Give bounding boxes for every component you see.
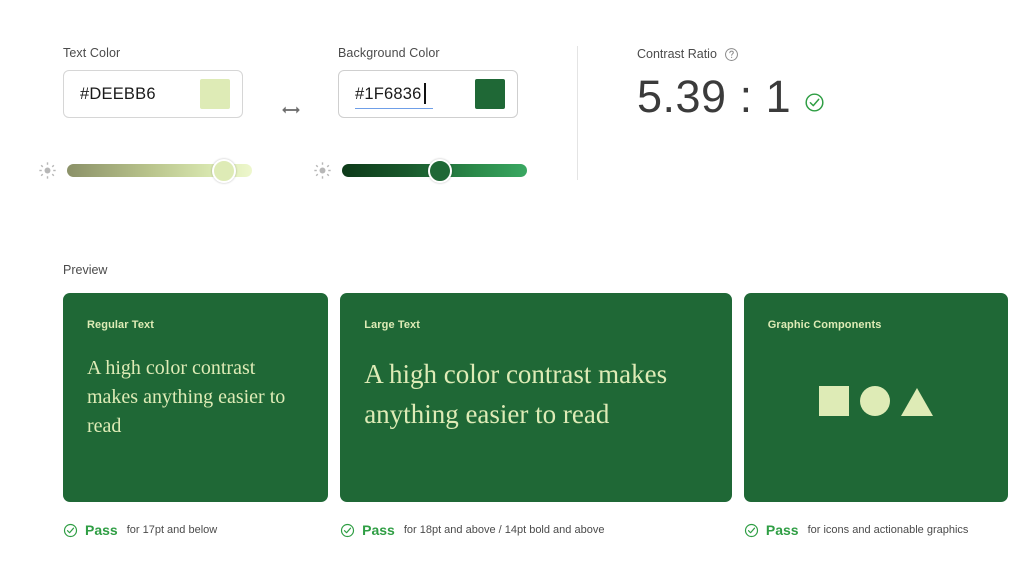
check-circle-icon bbox=[804, 92, 825, 113]
graphic-shapes bbox=[819, 386, 933, 416]
contrast-ratio-label: Contrast Ratio bbox=[637, 47, 717, 61]
result-note: for icons and actionable graphics bbox=[808, 523, 969, 537]
question-circle-icon[interactable] bbox=[724, 47, 739, 62]
square-icon bbox=[819, 386, 849, 416]
input-focus-underline bbox=[355, 108, 433, 110]
preview-card-regular-text: Regular Text A high color contrast makes… bbox=[63, 293, 328, 502]
text-color-hex-value: #DEEBB6 bbox=[80, 85, 156, 103]
text-color-input[interactable]: #DEEBB6 bbox=[63, 70, 243, 118]
background-color-field-group: Background Color #1F6836 bbox=[338, 46, 518, 118]
background-color-brightness-slider-row bbox=[314, 162, 527, 179]
contrast-ratio-value-row: 5.39 : 1 bbox=[637, 71, 825, 123]
result-status: Pass bbox=[85, 522, 118, 538]
text-color-label: Text Color bbox=[63, 46, 243, 60]
card-kicker: Graphic Components bbox=[768, 319, 984, 332]
background-color-hex-value: #1F6836 bbox=[355, 85, 422, 103]
text-color-slider-thumb[interactable] bbox=[212, 159, 236, 183]
text-color-brightness-slider-row bbox=[39, 162, 252, 179]
check-circle-icon bbox=[63, 523, 78, 538]
background-color-hex-wrap: #1F6836 bbox=[355, 84, 422, 104]
background-color-brightness-slider[interactable] bbox=[342, 164, 527, 177]
sample-text-large: A high color contrast makes anything eas… bbox=[364, 354, 708, 434]
text-caret bbox=[424, 83, 426, 104]
result-regular-text: Pass for 17pt and below bbox=[63, 521, 328, 539]
result-status: Pass bbox=[362, 522, 395, 538]
brightness-sun-icon bbox=[39, 162, 56, 179]
result-note: for 18pt and above / 14pt bold and above bbox=[404, 523, 605, 537]
text-color-swatch[interactable] bbox=[200, 79, 230, 109]
result-note: for 17pt and below bbox=[127, 523, 218, 537]
result-status: Pass bbox=[766, 522, 799, 538]
card-kicker: Large Text bbox=[364, 319, 708, 332]
color-controls-row: Text Color #DEEBB6 Background Color #1F6… bbox=[0, 0, 1024, 200]
brightness-sun-icon bbox=[314, 162, 331, 179]
card-kicker: Regular Text bbox=[87, 319, 304, 332]
contrast-ratio-label-row: Contrast Ratio bbox=[637, 46, 825, 62]
contrast-ratio-value: 5.39 : 1 bbox=[637, 71, 791, 123]
result-graphic-components: Pass for icons and actionable graphics bbox=[744, 521, 1008, 539]
sample-text-regular: A high color contrast makes anything eas… bbox=[87, 354, 304, 441]
preview-card-large-text: Large Text A high color contrast makes a… bbox=[340, 293, 732, 502]
section-divider bbox=[577, 46, 578, 180]
circle-icon bbox=[860, 386, 890, 416]
preview-results-row: Pass for 17pt and below Pass for 18pt an… bbox=[63, 521, 1008, 539]
text-color-field-group: Text Color #DEEBB6 bbox=[63, 46, 243, 118]
swap-horizontal-icon[interactable] bbox=[279, 99, 303, 121]
preview-cards: Regular Text A high color contrast makes… bbox=[63, 293, 1008, 502]
contrast-ratio-block: Contrast Ratio 5.39 : 1 bbox=[637, 46, 825, 123]
preview-card-graphic-components: Graphic Components bbox=[744, 293, 1008, 502]
text-color-hex-wrap: #DEEBB6 bbox=[80, 84, 156, 104]
text-color-brightness-slider[interactable] bbox=[67, 164, 252, 177]
triangle-icon bbox=[901, 388, 933, 416]
background-color-swatch[interactable] bbox=[475, 79, 505, 109]
result-large-text: Pass for 18pt and above / 14pt bold and … bbox=[340, 521, 732, 539]
check-circle-icon bbox=[744, 523, 759, 538]
background-color-label: Background Color bbox=[338, 46, 518, 60]
background-color-slider-thumb[interactable] bbox=[428, 159, 452, 183]
preview-label: Preview bbox=[63, 263, 107, 278]
background-color-input[interactable]: #1F6836 bbox=[338, 70, 518, 118]
check-circle-icon bbox=[340, 523, 355, 538]
